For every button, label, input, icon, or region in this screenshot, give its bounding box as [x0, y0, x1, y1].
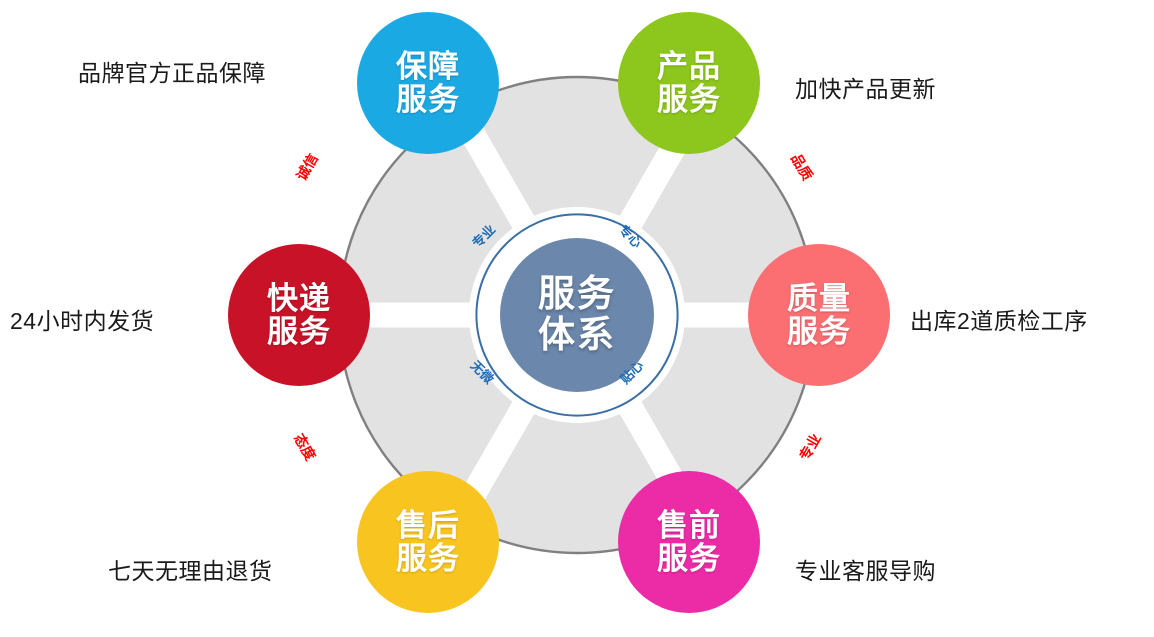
node-quality-line1: 质量 — [787, 282, 851, 315]
node-guarantee-line2: 服务 — [396, 83, 460, 116]
note-bottom-right: 专业客服导购 — [795, 552, 936, 586]
node-delivery[interactable]: 快递 服务 — [228, 244, 370, 386]
node-guarantee[interactable]: 保障 服务 — [357, 12, 499, 154]
node-guarantee-line1: 保障 — [396, 50, 460, 83]
hub-title-line1: 服务 — [538, 274, 616, 315]
note-mid-right: 出库2道质检工序 — [910, 302, 1088, 336]
node-quality[interactable]: 质量 服务 — [748, 244, 890, 386]
node-product[interactable]: 产品 服务 — [618, 12, 760, 154]
node-presale[interactable]: 售前 服务 — [618, 471, 760, 613]
note-bottom-left: 七天无理由退货 — [108, 552, 273, 586]
note-mid-left: 24小时内发货 — [10, 302, 154, 336]
node-presale-line2: 服务 — [657, 542, 721, 575]
diagram-canvas: 服务 体系 专业 专心 无微 贴心 诚信 品质 态度 专业 保障 服务 产品 服… — [0, 0, 1154, 637]
node-aftersale-line2: 服务 — [396, 542, 460, 575]
hub-title-line2: 体系 — [538, 315, 616, 356]
node-aftersale-line1: 售后 — [396, 509, 460, 542]
note-top-left: 品牌官方正品保障 — [78, 54, 266, 88]
node-delivery-line1: 快递 — [267, 282, 331, 315]
node-presale-line1: 售前 — [657, 509, 721, 542]
node-product-line2: 服务 — [657, 83, 721, 116]
node-aftersale[interactable]: 售后 服务 — [357, 471, 499, 613]
node-product-line1: 产品 — [657, 50, 721, 83]
node-delivery-line2: 服务 — [267, 315, 331, 348]
note-top-right: 加快产品更新 — [795, 70, 936, 104]
node-quality-line2: 服务 — [787, 315, 851, 348]
